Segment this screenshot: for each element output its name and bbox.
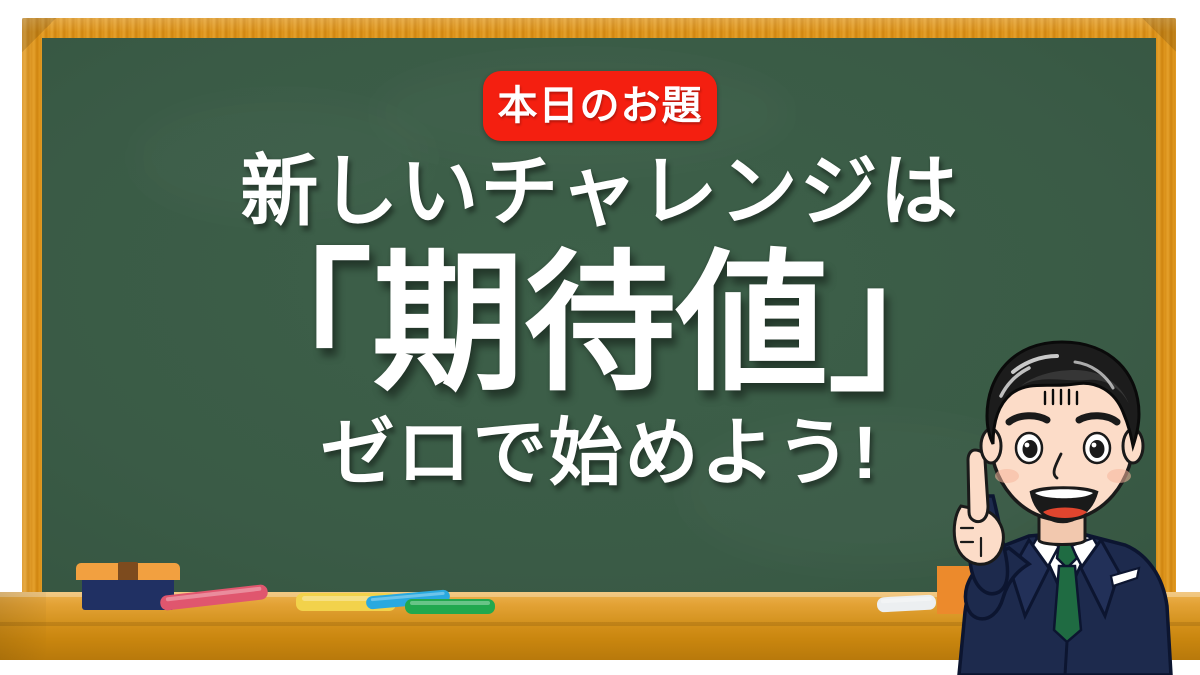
- chalk-smudge: [132, 98, 432, 218]
- tray-left-shadow: [0, 592, 46, 660]
- topic-badge: 本日のお題: [483, 71, 717, 141]
- slide-canvas: 本日のお題 新しいチャレンジは 「期待値」 ゼロで始めよう!: [0, 0, 1200, 675]
- teacher-character: [925, 300, 1200, 675]
- chalk-green: [405, 599, 495, 614]
- topic-badge-label: 本日のお題: [498, 86, 703, 126]
- character-head: [981, 342, 1143, 522]
